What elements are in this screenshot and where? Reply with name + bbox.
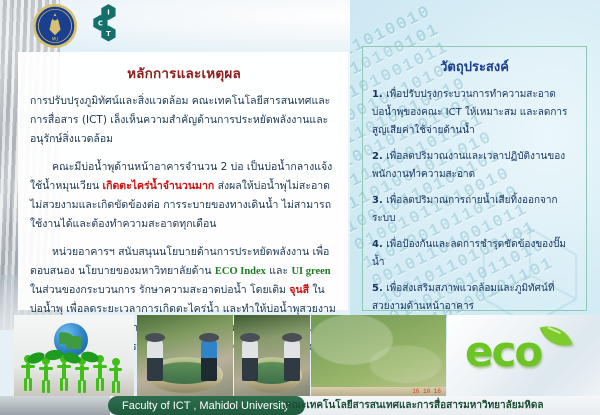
ict-logo-icon: I C T [88, 3, 128, 48]
footer-bar: Faculty of ICT , Mahidol University คณะเ… [0, 396, 600, 415]
staff-person [242, 339, 258, 381]
footer-left-decoration [0, 396, 110, 415]
rationale-panel: หลักการและเหตุผล การปรับปรุงภูมิทัศน์และ… [18, 52, 348, 310]
objective-number: 2. [372, 151, 386, 162]
svg-text:I: I [107, 8, 109, 16]
objective-item: 5. เพื่อส่งเสริมสภาพแวดล้อมและภูมิทัศน์ท… [372, 280, 577, 316]
objective-number: 3. [372, 195, 386, 206]
objective-number: 5. [372, 283, 386, 294]
objective-text: เพื่อส่งเสริมสภาพแวดล้อมและภูมิทัศน์ที่ส… [372, 283, 554, 312]
svg-text:T: T [106, 30, 111, 38]
faculty-badge: Faculty of ICT , Mahidol University [108, 396, 305, 415]
objective-text: เพื่อปรับปรุงกระบวนการทำความสะอาดบ่อน้ำพ… [372, 89, 567, 136]
eco-wordmark: eco [465, 331, 541, 373]
poster-root: 01001011010010 10010110100101 0010110100… [0, 0, 600, 415]
photo-date-stamp: 16 10 16 [412, 388, 441, 395]
faculty-badge-thai: คณะเทคโนโลยีสารสนเทศและการสื่อสารมหาวิทย… [285, 398, 543, 413]
algae-surface [311, 315, 446, 397]
rationale-paragraph: คณะมีบ่อน้ำพุด้านหน้าอาคารจำนวน 2 บ่อ เป… [30, 158, 338, 234]
photo-eco-wordmark-logo: eco [447, 315, 600, 397]
objective-item: 3. เพื่อลดปริมาณการถ่ายน้ำเสียทิ้งออกจาก… [372, 192, 577, 228]
objective-item: 1. เพื่อปรับปรุงกระบวนการทำความสะอาดบ่อน… [372, 86, 577, 140]
rationale-paragraph: การปรับปรุงภูมิทัศน์และสิ่งแวดล้อม คณะเท… [30, 92, 338, 149]
photo-staff-cleaning-fountain-2 [234, 315, 310, 397]
photo-strip: 16 10 16 eco [0, 315, 600, 397]
objectives-list: 1. เพื่อปรับปรุงกระบวนการทำความสะอาดบ่อน… [372, 86, 577, 316]
objective-number: 1. [372, 89, 386, 100]
objective-text: เพื่อป้องกันและลดการชำรุดขัดข้องของปั๊มน… [372, 239, 566, 268]
staff-person [147, 339, 163, 381]
text-run: รักษาความสะอาดบ่อน้ำ โดยเติม [139, 284, 289, 296]
objective-text: เพื่อลดปริมาณการถ่ายน้ำเสียทิ้งออกจากระบ… [372, 195, 558, 224]
photo-staff-cleaning-fountain-1 [137, 315, 233, 397]
people-holding-leaves-icon [20, 349, 130, 393]
staff-person [284, 339, 300, 381]
staff-person [201, 339, 217, 381]
text-run: และ [266, 265, 292, 277]
objective-number: 4. [372, 239, 386, 250]
svg-text:MU: MU [52, 37, 59, 42]
objective-item: 4. เพื่อป้องกันและลดการชำรุดขัดข้องของปั… [372, 236, 577, 272]
photo-algae-covered-pond: 16 10 16 [311, 315, 446, 397]
objectives-heading: วัตถุประสงค์ [372, 56, 577, 77]
objective-text: เพื่อลดปริมาณงานและเวลาปฏิบัติงานของพนัก… [372, 151, 565, 180]
text-run: ECO Index [215, 266, 266, 277]
svg-text:C: C [98, 20, 103, 28]
text-run: ในส่วนของกระบวนการ [30, 284, 136, 296]
leaf-icon [540, 320, 573, 353]
text-run: เกิดตะไคร่น้ำจำนวนมาก [103, 180, 215, 192]
text-run: UI green [291, 266, 330, 277]
rationale-heading: หลักการและเหตุผล [30, 62, 338, 84]
mahidol-seal-icon: MU [32, 3, 78, 49]
text-run: นโยบายของมหาวิทยาลัยด้าน [78, 265, 215, 277]
text-run: จุนสี [289, 284, 309, 296]
photo-eco-teamwork-graphic [14, 315, 134, 397]
objectives-panel: วัตถุประสงค์ 1. เพื่อปรับปรุงกระบวนการทำ… [362, 46, 587, 311]
objective-item: 2. เพื่อลดปริมาณงานและเวลาปฏิบัติงานของพ… [372, 148, 577, 184]
